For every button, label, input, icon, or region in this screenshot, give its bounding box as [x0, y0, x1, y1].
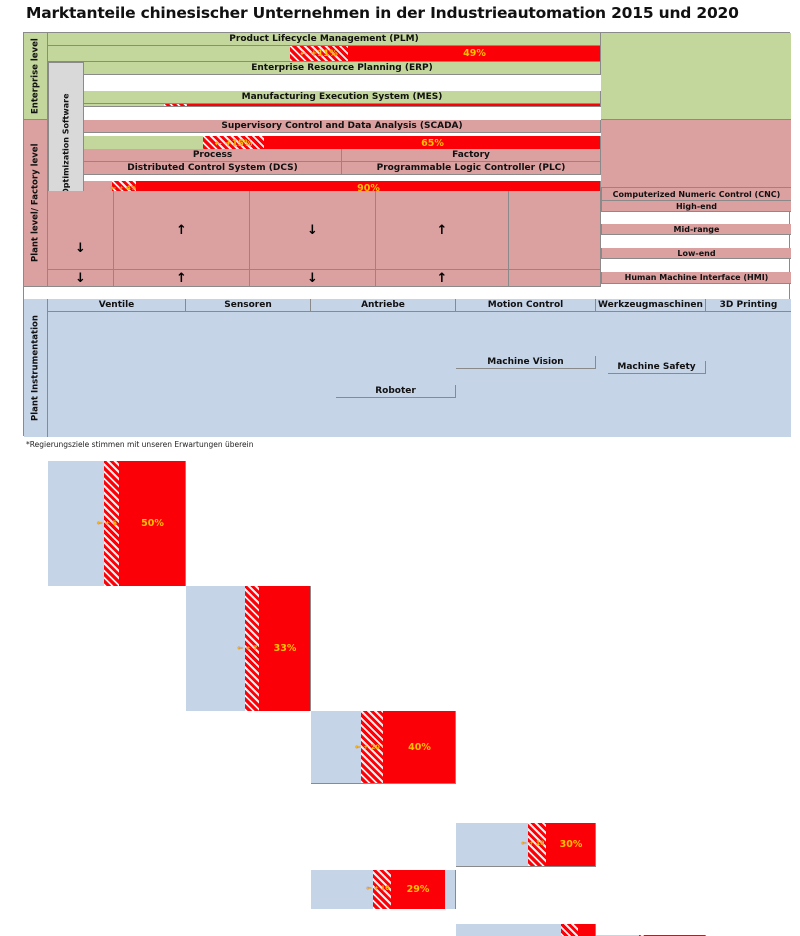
arrow-cell-1-1: ↓	[48, 227, 114, 270]
bar-growth-machine-vision: ← + 9 %	[561, 924, 578, 936]
col-header-antriebe: Antriebe	[311, 299, 456, 312]
bar-growth-antriebe: ← + 20 %	[361, 711, 383, 783]
arrow-cell-1-2: ↑	[114, 191, 250, 270]
chart-frame: Enterprise level Product Lifecycle Manag…	[23, 32, 790, 436]
col-header-roboter: Roboter	[336, 385, 456, 398]
row-header-plc: Programmable Logic Controller (PLC)	[342, 162, 601, 175]
col-header-werkzeugmaschinen: Werkzeugmaschinen	[596, 299, 706, 312]
row-header-cnc-mid-range: Mid-range	[601, 224, 791, 235]
arrow-cell-1-3: ↓	[250, 191, 376, 270]
side-label-plant: Plant level/ Factory level	[24, 120, 48, 287]
bar-col-werkzeugmaschinen: ← + 3 % 62%	[596, 935, 706, 936]
bar-value-roboter: 29%	[391, 870, 445, 909]
bar-col-roboter: ← + 16 % 29%	[311, 870, 456, 909]
row-header-scada: Supervisory Control and Data Analysis (S…	[84, 120, 601, 133]
bar-growth-plm: ← +11%	[290, 46, 348, 61]
bar-col-sensoren: ← + 7 % 33%	[186, 586, 311, 711]
col-header-machine-vision: Machine Vision	[456, 356, 596, 369]
row-header-plm: Product Lifecycle Management (PLM)	[48, 33, 601, 46]
arrow-cell-1-4: ↑	[376, 191, 509, 270]
bar-value-ventile: 50%	[119, 461, 186, 586]
side-label-instrumentation: Plant Instrumentation	[24, 299, 48, 437]
plant-filler-right	[509, 191, 601, 270]
bar-value-sensoren: 33%	[259, 586, 311, 711]
row-header-cnc: Computerized Numeric Control (CNC)	[601, 188, 791, 201]
arrow-cell-2-4: ↑	[376, 270, 509, 287]
arrow-cell-2-1: ↓	[48, 270, 114, 287]
bar-col-antriebe: ← + 20 % 40%	[311, 711, 456, 784]
bar-growth-sensoren: ← + 7 %	[245, 586, 259, 711]
col-header-3d-printing: 3D Printing	[706, 299, 791, 312]
arrow-cell-2-2: ↑	[114, 270, 250, 287]
bar-col-ventile: ← + 5 % 50%	[48, 461, 186, 586]
cnc-top-filler	[601, 120, 791, 188]
bar-value-werkzeugmaschinen: 62%	[648, 935, 706, 936]
col-header-sensoren: Sensoren	[186, 299, 311, 312]
col-header-ventile: Ventile	[48, 299, 186, 312]
bar-col-motion-control: ← + 10 % 30%	[456, 823, 596, 867]
plant-filler-right-2	[509, 270, 601, 287]
row-header-dcs: Distributed Control System (DCS)	[84, 162, 342, 175]
bar-value-motion-control: 30%	[546, 823, 596, 866]
row-header-hmi: Human Machine Interface (HMI)	[601, 272, 791, 284]
bar-value-plm: 49%	[348, 46, 601, 61]
bar-growth-werkzeugmaschinen: ← + 3 %	[639, 935, 648, 936]
bar-growth-roboter: ← + 16 %	[373, 870, 391, 909]
bar-growth-motion-control: ← + 10 %	[528, 823, 546, 866]
bar-value-machine-vision: 6%	[578, 924, 596, 936]
bar-col-machine-vision: ← + 9 % 6%	[456, 924, 596, 936]
row-header-cnc-high-end: High-end	[601, 201, 791, 212]
group-header-process: Process	[84, 149, 342, 162]
page-title: Marktanteile chinesischer Unternehmen in…	[26, 4, 786, 22]
side-label-enterprise: Enterprise level	[24, 33, 48, 120]
bar-value-antriebe: 40%	[383, 711, 456, 783]
row-header-mes: Manufacturing Execution System (MES)	[84, 91, 601, 104]
row-header-erp: Enterprise Resource Planning (ERP)	[84, 62, 601, 75]
enterprise-right-filler	[601, 33, 791, 120]
plant-filler-left	[48, 191, 114, 227]
arrow-cell-2-3: ↓	[250, 270, 376, 287]
chart-root: Marktanteile chinesischer Unternehmen in…	[0, 0, 800, 468]
col-header-motion-control: Motion Control	[456, 299, 596, 312]
bar-row-plm: ← +11% 49%	[48, 46, 601, 62]
footnote: *Regierungsziele stimmen mit unseren Erw…	[26, 440, 253, 449]
row-header-cnc-low-end: Low-end	[601, 248, 791, 259]
bar-growth-ventile: ← + 5 %	[104, 461, 119, 586]
group-header-factory: Factory	[342, 149, 601, 162]
col-header-machine-safety: Machine Safety	[608, 361, 706, 374]
